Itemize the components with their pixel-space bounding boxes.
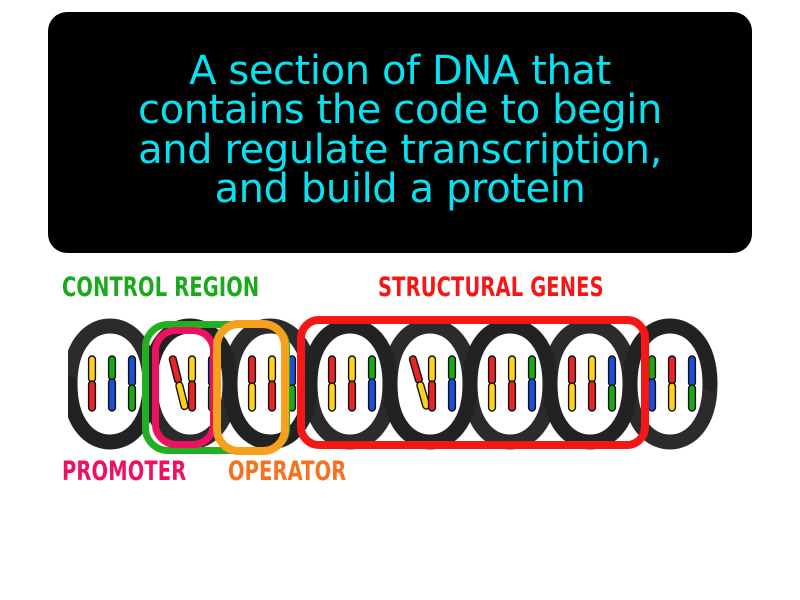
label-promoter: PROMOTER	[62, 458, 186, 485]
label-operator: OPERATOR	[228, 458, 346, 485]
definition-panel: A section of DNA that contains the code …	[48, 12, 752, 253]
highlight-box-structural-genes	[297, 316, 649, 449]
definition-text: A section of DNA that contains the code …	[58, 52, 742, 209]
dna-diagram: CONTROL REGION STRUCTURAL GENES PROMOTER…	[0, 258, 800, 508]
label-control-region: CONTROL REGION	[62, 274, 259, 301]
label-structural-genes: STRUCTURAL GENES	[378, 274, 604, 301]
highlight-box-operator	[213, 320, 289, 455]
definition-card: A section of DNA that contains the code …	[0, 0, 800, 600]
highlight-box-promoter	[152, 327, 217, 448]
